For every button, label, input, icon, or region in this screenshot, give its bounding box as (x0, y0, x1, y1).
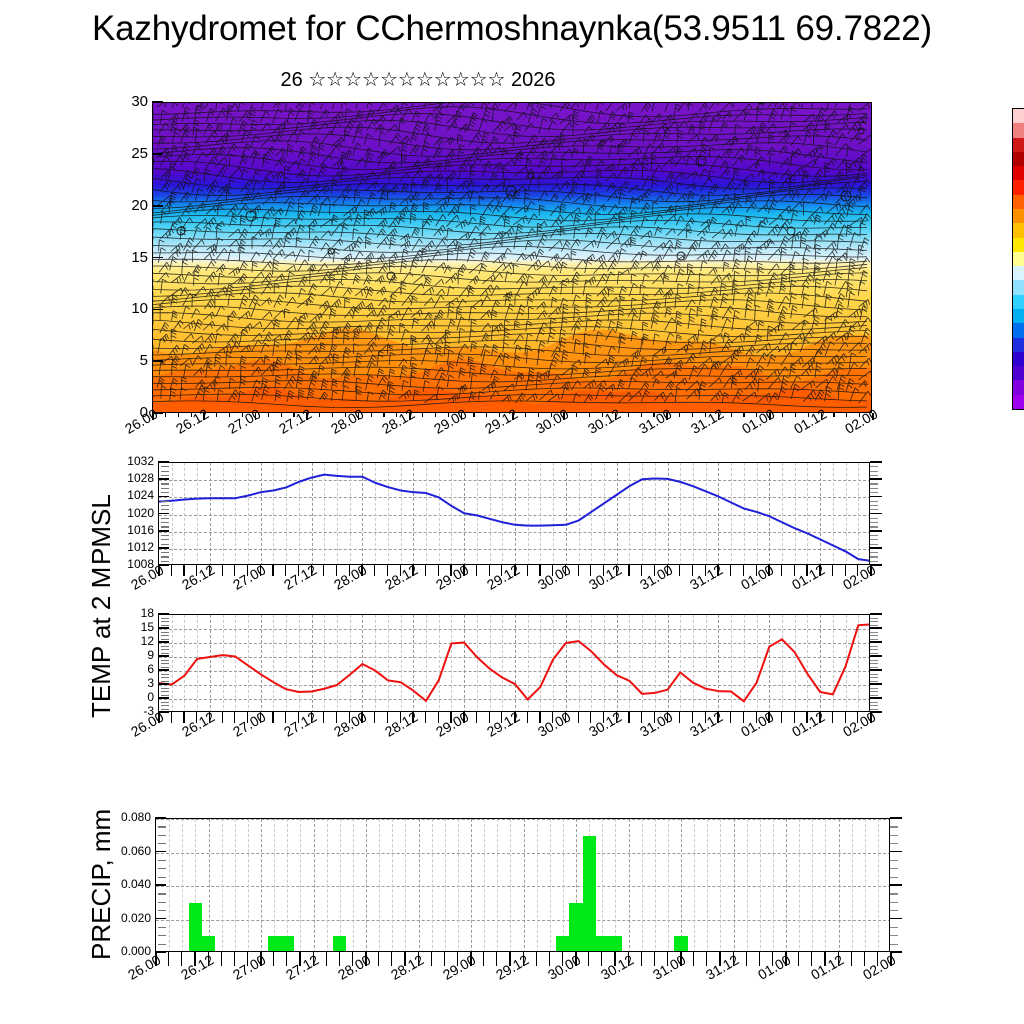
grid-line-v-minor (340, 819, 341, 952)
x-tick-minor (731, 413, 732, 417)
grid-line-v-minor (405, 819, 406, 952)
y-tick-right-minor (870, 632, 878, 633)
precip-plot-area[interactable] (155, 818, 890, 952)
y-tick-minor (161, 561, 169, 562)
y-tick-right-minor (870, 509, 878, 510)
y-tick-minor (161, 695, 169, 696)
grid-line-v (366, 819, 367, 952)
precip-bar (583, 836, 596, 952)
grid-line-v-minor (852, 819, 853, 952)
y-axis-label: 25 (94, 147, 148, 160)
y-tick-minor (161, 526, 169, 527)
x-tick-minor (811, 952, 812, 966)
wind-profile-plot-area[interactable] (152, 102, 872, 413)
y-tick-minor (161, 709, 169, 710)
y-axis-label: 5 (94, 354, 148, 367)
grid-line-v (524, 819, 525, 952)
grid-line-v-minor (615, 819, 616, 952)
y-tick-right-minor (890, 927, 898, 928)
grid-line-v (471, 819, 472, 952)
y-tick-right-minor (870, 653, 878, 654)
y-tick-right-minor (870, 522, 878, 523)
y-tick-right-major (890, 951, 902, 953)
y-tick-minor (161, 660, 169, 661)
y-tick-minor (161, 501, 169, 502)
x-axis-label: 30.12 (598, 951, 636, 982)
y-axis-label: 1012 (100, 541, 154, 554)
y-tick-right-minor (870, 695, 878, 696)
grid-line-v-minor (235, 819, 236, 952)
y-tick-right-minor (870, 539, 878, 540)
x-tick-minor (371, 413, 372, 417)
x-tick-minor (234, 565, 235, 576)
x-tick-minor (679, 712, 680, 723)
y-tick-right-minor (870, 466, 878, 467)
y-tick-major (158, 697, 169, 699)
x-tick-minor (628, 712, 629, 723)
y-tick-right-major (890, 918, 902, 920)
y-axis-label: 18 (100, 607, 154, 620)
x-tick-minor (781, 565, 782, 576)
grid-line-v-minor (655, 819, 656, 952)
y-tick-right-minor (870, 475, 878, 476)
x-tick-minor (221, 952, 222, 966)
y-tick-right-minor (870, 660, 878, 661)
grid-line-v-minor (537, 819, 538, 952)
colorbar-cell (1013, 109, 1024, 123)
y-tick-right-minor (890, 843, 898, 844)
y-tick-right-minor (870, 501, 878, 502)
x-tick-minor (285, 565, 286, 576)
grid-line-v-minor (707, 819, 708, 952)
y-tick-right-minor (890, 910, 898, 911)
y-tick-right-minor (870, 667, 878, 668)
grid-line-v-minor (694, 819, 695, 952)
x-tick-minor (171, 565, 172, 576)
y-tick-major (152, 101, 163, 103)
y-axis-label: 9 (100, 649, 154, 662)
x-tick-minor (285, 712, 286, 723)
x-tick-minor (578, 712, 579, 723)
y-tick-right-minor (890, 902, 898, 903)
x-tick-minor (628, 413, 629, 417)
x-tick-minor (527, 565, 528, 576)
y-tick-major (158, 669, 169, 671)
y-tick-major (158, 683, 169, 685)
x-tick-minor (431, 952, 432, 966)
y-tick-right-minor (890, 868, 898, 869)
grid-line-v-minor (222, 819, 223, 952)
y-tick-right-minor (870, 556, 878, 557)
x-tick-minor (832, 712, 833, 723)
colorbar-cell (1013, 395, 1024, 409)
x-tick-minor (527, 712, 528, 723)
y-tick-right-major (870, 669, 882, 671)
y-tick-right-minor (870, 649, 878, 650)
x-tick-minor (588, 952, 589, 966)
y-tick-minor (161, 522, 169, 523)
y-tick-minor (161, 535, 169, 536)
y-tick-minor (161, 518, 169, 519)
y-tick-minor (158, 843, 166, 844)
colorbar-cell (1013, 280, 1024, 294)
y-tick-minor (158, 868, 166, 869)
y-axis-label: 1032 (100, 455, 154, 468)
x-axis-label: 01.12 (789, 708, 827, 739)
grid-line-v (839, 819, 840, 952)
grid-line-v-minor (642, 819, 643, 952)
x-tick-minor (795, 413, 796, 417)
y-tick-major (158, 513, 169, 515)
x-tick-minor (391, 952, 392, 966)
colorbar-cell (1013, 195, 1024, 209)
precip-bar (333, 936, 346, 952)
y-axis-label: 1028 (100, 472, 154, 485)
x-tick-minor (746, 952, 747, 966)
grid-line-v (629, 819, 630, 952)
x-axis-label: 29.00 (440, 951, 478, 982)
x-axis-label: 01.00 (738, 708, 776, 739)
y-tick-major (158, 547, 169, 549)
x-tick-minor (234, 712, 235, 723)
x-tick-minor (286, 952, 287, 966)
x-axis-label: 01.00 (738, 561, 776, 592)
colorbar-cell (1013, 238, 1024, 252)
grid-line-v-minor (747, 819, 748, 952)
x-tick-minor (234, 952, 235, 966)
y-tick-right-minor (870, 646, 878, 647)
y-tick-right-major (890, 884, 902, 886)
x-tick-minor (476, 712, 477, 723)
y-tick-minor (158, 893, 166, 894)
x-tick-minor (486, 413, 487, 417)
grid-line-v-minor (274, 819, 275, 952)
y-tick-right-major (870, 478, 882, 480)
pmsl-plot-area[interactable] (158, 462, 870, 565)
y-tick-right-minor (870, 674, 878, 675)
y-axis-label: 0 (100, 691, 154, 704)
y-tick-right-major (870, 547, 882, 549)
y-tick-minor (161, 639, 169, 640)
y-tick-major (155, 884, 166, 886)
x-tick-minor (832, 565, 833, 576)
grid-line-v-minor (773, 819, 774, 952)
x-tick-minor (425, 712, 426, 723)
y-tick-right-minor (890, 835, 898, 836)
y-tick-right-minor (890, 877, 898, 878)
y-axis-label: 10 (94, 302, 148, 315)
precip-bar (596, 936, 609, 952)
x-tick-minor (730, 565, 731, 576)
grid-line-v-minor (445, 819, 446, 952)
precip-bar (674, 936, 687, 952)
y-tick-right-minor (870, 663, 878, 664)
x-tick-minor (538, 413, 539, 417)
x-tick-minor (171, 712, 172, 723)
y-tick-minor (158, 910, 166, 911)
grid-line-v-minor (379, 819, 380, 952)
colorbar-cell (1013, 352, 1024, 366)
y-tick-minor (161, 632, 169, 633)
grid-line-v (419, 819, 420, 952)
y-axis-label: 1016 (100, 524, 154, 537)
y-tick-minor (161, 483, 169, 484)
grid-line-v-minor (799, 819, 800, 952)
x-tick-minor (473, 413, 474, 417)
y-tick-minor (161, 466, 169, 467)
y-axis-label: 1020 (100, 507, 154, 520)
y-axis-label: 12 (100, 635, 154, 648)
y-tick-right-major (890, 851, 902, 853)
grid-line-v-minor (497, 819, 498, 952)
y-tick-right-minor (870, 492, 878, 493)
y-tick-major (155, 817, 166, 819)
grid-line-v (786, 819, 787, 952)
y-tick-right-major (870, 530, 882, 532)
y-tick-major (158, 478, 169, 480)
y-tick-minor (161, 702, 169, 703)
grid-line-v-minor (865, 819, 866, 952)
y-tick-right-minor (870, 535, 878, 536)
x-tick-minor (759, 952, 760, 966)
x-tick-minor (590, 565, 591, 576)
x-tick-minor (589, 413, 590, 417)
x-axis-label: 29.00 (433, 708, 471, 739)
precip-bar (556, 936, 569, 952)
y-tick-minor (161, 691, 169, 692)
grid-line-v-minor (248, 819, 249, 952)
y-tick-right-major (870, 461, 882, 463)
x-tick-minor (332, 413, 333, 417)
x-tick-minor (864, 952, 865, 966)
x-tick-minor (374, 565, 375, 576)
x-tick-minor (496, 952, 497, 966)
y-tick-minor (161, 488, 169, 489)
x-tick-minor (216, 413, 217, 417)
y-tick-minor (161, 621, 169, 622)
x-tick-minor (693, 952, 694, 966)
grid-line-v (681, 819, 682, 952)
x-tick-minor (578, 565, 579, 576)
x-tick-minor (422, 413, 423, 417)
colorbar-cell (1013, 223, 1024, 237)
y-tick-minor (161, 649, 169, 650)
x-tick-minor (268, 413, 269, 417)
x-tick-minor (425, 565, 426, 576)
x-tick-minor (273, 952, 274, 966)
temp-plot-area[interactable] (158, 614, 870, 712)
y-axis-label: 20 (94, 199, 148, 212)
x-tick-minor (730, 712, 731, 723)
grid-line-v-minor (484, 819, 485, 952)
grid-line-v-minor (182, 819, 183, 952)
x-axis-label: 31.00 (650, 951, 688, 982)
x-tick-minor (549, 952, 550, 966)
x-tick-minor (168, 952, 169, 966)
x-tick-minor (272, 565, 273, 576)
y-tick-right-minor (890, 860, 898, 861)
y-tick-minor (161, 618, 169, 619)
y-tick-right-major (870, 496, 882, 498)
grid-line-v-minor (760, 819, 761, 952)
precip-bar (202, 936, 215, 952)
y-tick-minor (161, 552, 169, 553)
colorbar-cell (1013, 166, 1024, 180)
x-tick-minor (601, 952, 602, 966)
y-tick-right-minor (890, 935, 898, 936)
colorbar-cell (1013, 138, 1024, 152)
grid-line-v-minor (668, 819, 669, 952)
precip-bar (268, 936, 281, 952)
y-tick-right-minor (870, 639, 878, 640)
x-tick-minor (641, 565, 642, 576)
y-tick-minor (158, 927, 166, 928)
x-tick-minor (692, 413, 693, 417)
x-axis-label: 29.00 (433, 561, 471, 592)
precip-bar (281, 936, 294, 952)
grid-line-v-minor (327, 819, 328, 952)
y-tick-minor (158, 826, 166, 827)
y-tick-right-major (870, 613, 882, 615)
grid-line-v-minor (825, 819, 826, 952)
y-tick-minor (161, 556, 169, 557)
grid-line-v-minor (432, 819, 433, 952)
x-axis-label: 28.12 (382, 561, 420, 592)
grid-line-v (209, 819, 210, 952)
colorbar-cell (1013, 323, 1024, 337)
y-tick-major (158, 627, 169, 629)
x-tick-minor (378, 952, 379, 966)
y-tick-right-minor (870, 621, 878, 622)
x-tick-minor (706, 952, 707, 966)
colorbar (1012, 108, 1024, 410)
y-tick-minor (161, 705, 169, 706)
x-axis-label: 01.12 (789, 561, 827, 592)
y-axis-label: 0.000 (97, 945, 151, 958)
colorbar-cell (1013, 366, 1024, 380)
y-tick-right-minor (870, 618, 878, 619)
colorbar-cell (1013, 209, 1024, 223)
x-tick-minor (525, 413, 526, 417)
y-tick-minor (158, 835, 166, 836)
x-tick-minor (679, 565, 680, 576)
colorbar-cell (1013, 252, 1024, 266)
temp2m-series (159, 615, 870, 712)
y-tick-right-minor (870, 677, 878, 678)
grid-line-v-minor (353, 819, 354, 952)
y-tick-minor (161, 667, 169, 668)
x-tick-minor (851, 952, 852, 966)
y-tick-minor (161, 544, 169, 545)
colorbar-cell (1013, 380, 1024, 394)
x-axis-label: 27.00 (230, 951, 268, 982)
y-tick-right-minor (870, 702, 878, 703)
chart-subtitle-date: 26 ☆☆☆☆☆☆☆☆☆☆☆ 2026 (0, 68, 836, 92)
precip-bar (569, 903, 582, 952)
y-axis-label: 1024 (100, 489, 154, 502)
y-tick-major (158, 641, 169, 643)
y-tick-right-minor (870, 691, 878, 692)
y-tick-right-major (870, 513, 882, 515)
y-tick-minor (161, 505, 169, 506)
x-tick-minor (383, 413, 384, 417)
y-tick-minor (161, 663, 169, 664)
y-tick-right-minor (870, 505, 878, 506)
y-tick-minor (161, 674, 169, 675)
y-tick-major (152, 153, 163, 155)
x-tick-minor (679, 413, 680, 417)
y-tick-major (155, 951, 166, 953)
grid-line-v-minor (563, 819, 564, 952)
x-tick-minor (654, 952, 655, 966)
x-tick-minor (782, 413, 783, 417)
y-tick-right-minor (870, 688, 878, 689)
grid-line-v (734, 819, 735, 952)
wind-profile-field (153, 103, 872, 413)
precip-bar (609, 936, 622, 952)
y-tick-right-minor (870, 471, 878, 472)
y-tick-right-minor (870, 544, 878, 545)
x-axis-label: 31.12 (703, 951, 741, 982)
y-tick-major (158, 461, 169, 463)
y-tick-minor (161, 471, 169, 472)
y-tick-major (155, 918, 166, 920)
grid-line-v-minor (720, 819, 721, 952)
y-axis-label: 6 (100, 663, 154, 676)
grid-line-v-minor (878, 819, 879, 952)
y-tick-right-major (870, 683, 882, 685)
colorbar-cell (1013, 295, 1024, 309)
x-axis-label: 02.00 (840, 708, 878, 739)
x-tick-minor (576, 413, 577, 417)
x-tick-minor (833, 413, 834, 417)
y-tick-major (152, 360, 163, 362)
x-axis-label: 30.00 (545, 951, 583, 982)
x-axis-label: 28.12 (388, 951, 426, 982)
x-tick-minor (590, 712, 591, 723)
x-tick-minor (435, 413, 436, 417)
y-axis-label: 0.020 (97, 912, 151, 925)
y-axis-label: 0.060 (97, 845, 151, 858)
y-tick-major (158, 530, 169, 532)
y-axis-label: 15 (94, 251, 148, 264)
y-tick-right-minor (870, 526, 878, 527)
y-tick-major (152, 309, 163, 311)
y-tick-minor (161, 688, 169, 689)
y-tick-right-minor (870, 625, 878, 626)
grid-line-v-minor (510, 819, 511, 952)
y-axis-label: 15 (100, 621, 154, 634)
y-tick-right-minor (870, 561, 878, 562)
x-tick-minor (229, 413, 230, 417)
y-tick-right-minor (890, 944, 898, 945)
y-tick-minor (161, 653, 169, 654)
y-tick-right-minor (870, 483, 878, 484)
y-tick-minor (161, 646, 169, 647)
x-tick-minor (628, 565, 629, 576)
x-tick-minor (178, 413, 179, 417)
y-tick-minor (158, 935, 166, 936)
y-tick-minor (161, 509, 169, 510)
x-tick-minor (846, 413, 847, 417)
x-tick-minor (281, 413, 282, 417)
y-tick-major (152, 205, 163, 207)
colorbar-cell (1013, 309, 1024, 323)
grid-line-v (261, 819, 262, 952)
y-tick-minor (161, 635, 169, 636)
y-tick-minor (161, 677, 169, 678)
x-tick-minor (326, 952, 327, 966)
